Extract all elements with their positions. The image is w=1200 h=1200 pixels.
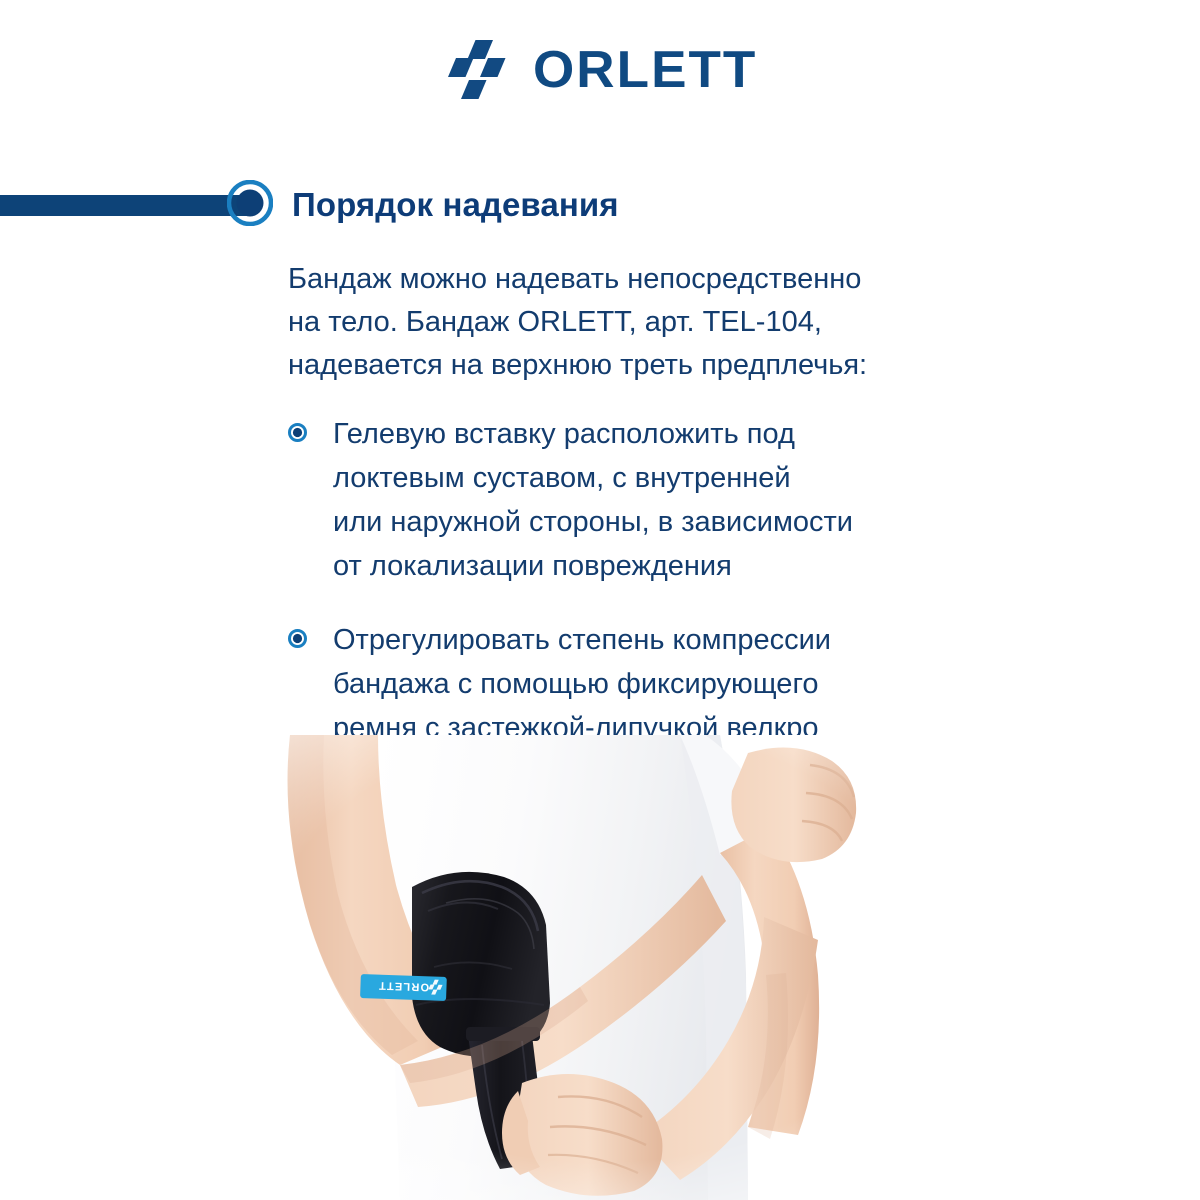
orlett-rhombus-mark-icon bbox=[447, 39, 513, 101]
ring-dot-marker-icon bbox=[227, 180, 273, 226]
intro-paragraph: Бандаж можно надевать непосредственно на… bbox=[288, 258, 1028, 387]
brand-logo: ORLETT bbox=[0, 38, 1200, 102]
ring-dot-bullet-icon bbox=[288, 629, 307, 648]
section-heading: Порядок надевания bbox=[0, 176, 1200, 234]
bullet-2-line-1: Отрегулировать степень компрессии bbox=[333, 618, 1008, 662]
instruction-list: Гелевую вставку расположить под локтевым… bbox=[288, 412, 1008, 750]
intro-line-1: Бандаж можно надевать непосредственно bbox=[288, 258, 1028, 301]
product-usage-photo: ORLETT bbox=[250, 735, 950, 1200]
list-item-text: Отрегулировать степень компрессии бандаж… bbox=[333, 618, 1008, 750]
bullet-2-line-2: бандажа с помощью фиксирующего bbox=[333, 662, 1008, 706]
intro-line-2: на тело. Бандаж ORLETT, арт. TEL-104, bbox=[288, 301, 1028, 344]
list-item: Отрегулировать степень компрессии бандаж… bbox=[288, 618, 1008, 750]
list-item: Гелевую вставку расположить под локтевым… bbox=[288, 412, 1008, 588]
intro-line-3: надевается на верхнюю треть предплечья: bbox=[288, 344, 1028, 387]
bullet-1-line-1: Гелевую вставку расположить под bbox=[333, 412, 1008, 456]
ring-dot-bullet-icon bbox=[288, 423, 307, 442]
list-item-text: Гелевую вставку расположить под локтевым… bbox=[333, 412, 1008, 588]
page-title: Порядок надевания bbox=[292, 176, 619, 234]
brand-wordmark: ORLETT bbox=[533, 44, 757, 96]
infographic-page: ORLETT Порядок надевания Бандаж можно на… bbox=[0, 0, 1200, 1200]
bullet-1-line-4: от локализации повреждения bbox=[333, 544, 1008, 588]
bullet-1-line-2: локтевым суставом, с внутренней bbox=[333, 456, 1008, 500]
bullet-1-line-3: или наружной стороны, в зависимости bbox=[333, 500, 1008, 544]
heading-rule bbox=[0, 195, 252, 216]
